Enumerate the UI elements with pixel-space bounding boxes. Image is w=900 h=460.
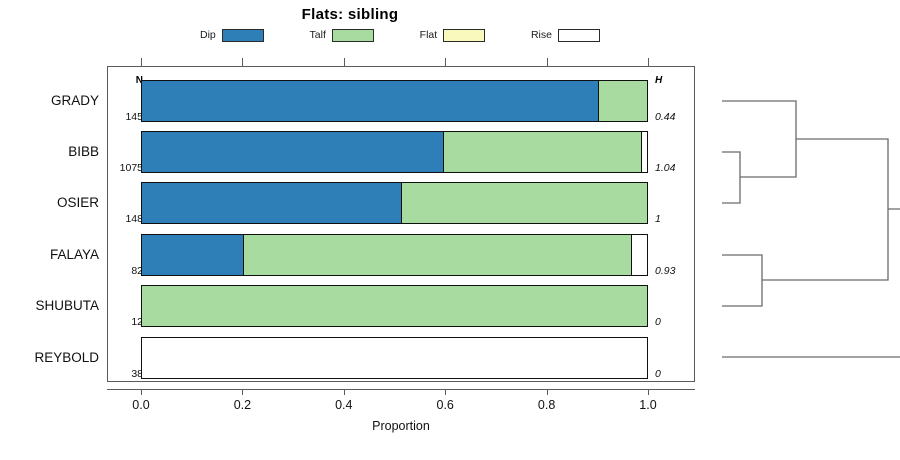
x-top-tick-4: [547, 58, 548, 66]
x-tick-label-0: 0.0: [132, 398, 149, 412]
n-value-bibb: 1075: [113, 163, 143, 174]
bar-segment-grady-dip[interactable]: [142, 81, 599, 121]
n-value-shubuta: 12: [113, 317, 143, 328]
legend-item-talf[interactable]: Talf: [310, 29, 374, 42]
bar-segment-falaya-dip[interactable]: [142, 235, 244, 275]
bar-segment-bibb-dip[interactable]: [142, 132, 444, 172]
h-value-grady: 0.44: [655, 112, 675, 123]
stacked-bar-grady[interactable]: [141, 80, 648, 122]
bar-segment-grady-talf[interactable]: [599, 81, 647, 121]
h-value-bibb: 1.04: [655, 163, 675, 174]
x-top-tick-1: [242, 58, 243, 66]
n-value-osier: 148: [113, 214, 143, 225]
legend: Dip Talf Flat Rise: [200, 26, 600, 44]
stacked-bars-area: N H 1450.4410751.041481820.93120380: [107, 66, 695, 382]
dendro-link-falaya-shubuta: [722, 255, 762, 306]
legend-swatch-flat: [443, 29, 485, 42]
legend-item-dip[interactable]: Dip: [200, 29, 264, 42]
bar-row-reybold: 380: [107, 337, 695, 379]
bar-segment-falaya-rise[interactable]: [632, 235, 647, 275]
category-axis-labels: GRADYBIBBOSIERFALAYASHUBUTAREYBOLD: [0, 66, 103, 382]
bar-segment-osier-dip[interactable]: [142, 183, 402, 223]
x-top-tick-3: [445, 58, 446, 66]
h-value-falaya: 0.93: [655, 266, 675, 277]
chart-title: Flats: sibling: [0, 6, 700, 23]
x-tick-label-3: 0.6: [436, 398, 453, 412]
category-label-falaya: FALAYA: [50, 248, 99, 262]
x-axis-top-ticks: [107, 58, 695, 66]
x-tick-label-4: 0.8: [538, 398, 555, 412]
x-top-tick-5: [648, 58, 649, 66]
bar-segment-bibb-talf[interactable]: [444, 132, 642, 172]
x-tick-3: [445, 389, 446, 395]
legend-item-flat[interactable]: Flat: [420, 29, 486, 42]
stacked-bar-bibb[interactable]: [141, 131, 648, 173]
category-label-shubuta: SHUBUTA: [35, 299, 99, 313]
bar-row-grady: 1450.44: [107, 80, 695, 122]
x-tick-0: [141, 389, 142, 395]
bar-row-osier: 1481: [107, 182, 695, 224]
category-label-reybold: REYBOLD: [34, 351, 99, 365]
stacked-bar-reybold[interactable]: [141, 337, 648, 379]
x-top-tick-2: [344, 58, 345, 66]
category-label-grady: GRADY: [51, 94, 99, 108]
h-value-osier: 1: [655, 214, 661, 225]
dendrogram-svg: [700, 60, 900, 390]
stacked-bar-falaya[interactable]: [141, 234, 648, 276]
dendro-link-root: [722, 209, 900, 357]
legend-label-flat: Flat: [420, 29, 438, 41]
legend-label-dip: Dip: [200, 29, 216, 41]
bar-segment-reybold-rise[interactable]: [142, 338, 647, 378]
stacked-bar-osier[interactable]: [141, 182, 648, 224]
dendrogram: [700, 60, 900, 390]
x-tick-label-2: 0.4: [335, 398, 352, 412]
legend-label-talf: Talf: [310, 29, 326, 41]
x-tick-4: [547, 389, 548, 395]
n-value-grady: 145: [113, 112, 143, 123]
x-tick-label-5: 1.0: [639, 398, 656, 412]
n-value-falaya: 82: [113, 266, 143, 277]
bar-segment-osier-talf[interactable]: [402, 183, 647, 223]
legend-swatch-talf: [332, 29, 374, 42]
x-tick-1: [242, 389, 243, 395]
bar-row-falaya: 820.93: [107, 234, 695, 276]
legend-swatch-dip: [222, 29, 264, 42]
category-label-osier: OSIER: [57, 196, 99, 210]
legend-label-rise: Rise: [531, 29, 552, 41]
bar-row-bibb: 10751.04: [107, 131, 695, 173]
dendro-link-grady-cluster: [722, 101, 796, 177]
h-value-shubuta: 0: [655, 317, 661, 328]
dendrogram-links: [722, 101, 900, 357]
bar-segment-shubuta-talf[interactable]: [142, 286, 647, 326]
stacked-bar-shubuta[interactable]: [141, 285, 648, 327]
x-top-tick-0: [141, 58, 142, 66]
dendro-link-bibb-osier: [722, 152, 740, 203]
n-value-reybold: 38: [113, 369, 143, 380]
legend-swatch-rise: [558, 29, 600, 42]
bar-segment-bibb-rise[interactable]: [642, 132, 647, 172]
x-axis-title: Proportion: [107, 419, 695, 433]
x-tick-label-1: 0.2: [234, 398, 251, 412]
legend-item-rise[interactable]: Rise: [531, 29, 600, 42]
bar-row-shubuta: 120: [107, 285, 695, 327]
x-tick-2: [344, 389, 345, 395]
x-tick-5: [648, 389, 649, 395]
x-axis-line: [107, 389, 695, 390]
bar-segment-falaya-talf[interactable]: [244, 235, 632, 275]
h-value-reybold: 0: [655, 369, 661, 380]
dendro-link-upper-lower: [762, 139, 888, 280]
category-label-bibb: BIBB: [68, 145, 99, 159]
